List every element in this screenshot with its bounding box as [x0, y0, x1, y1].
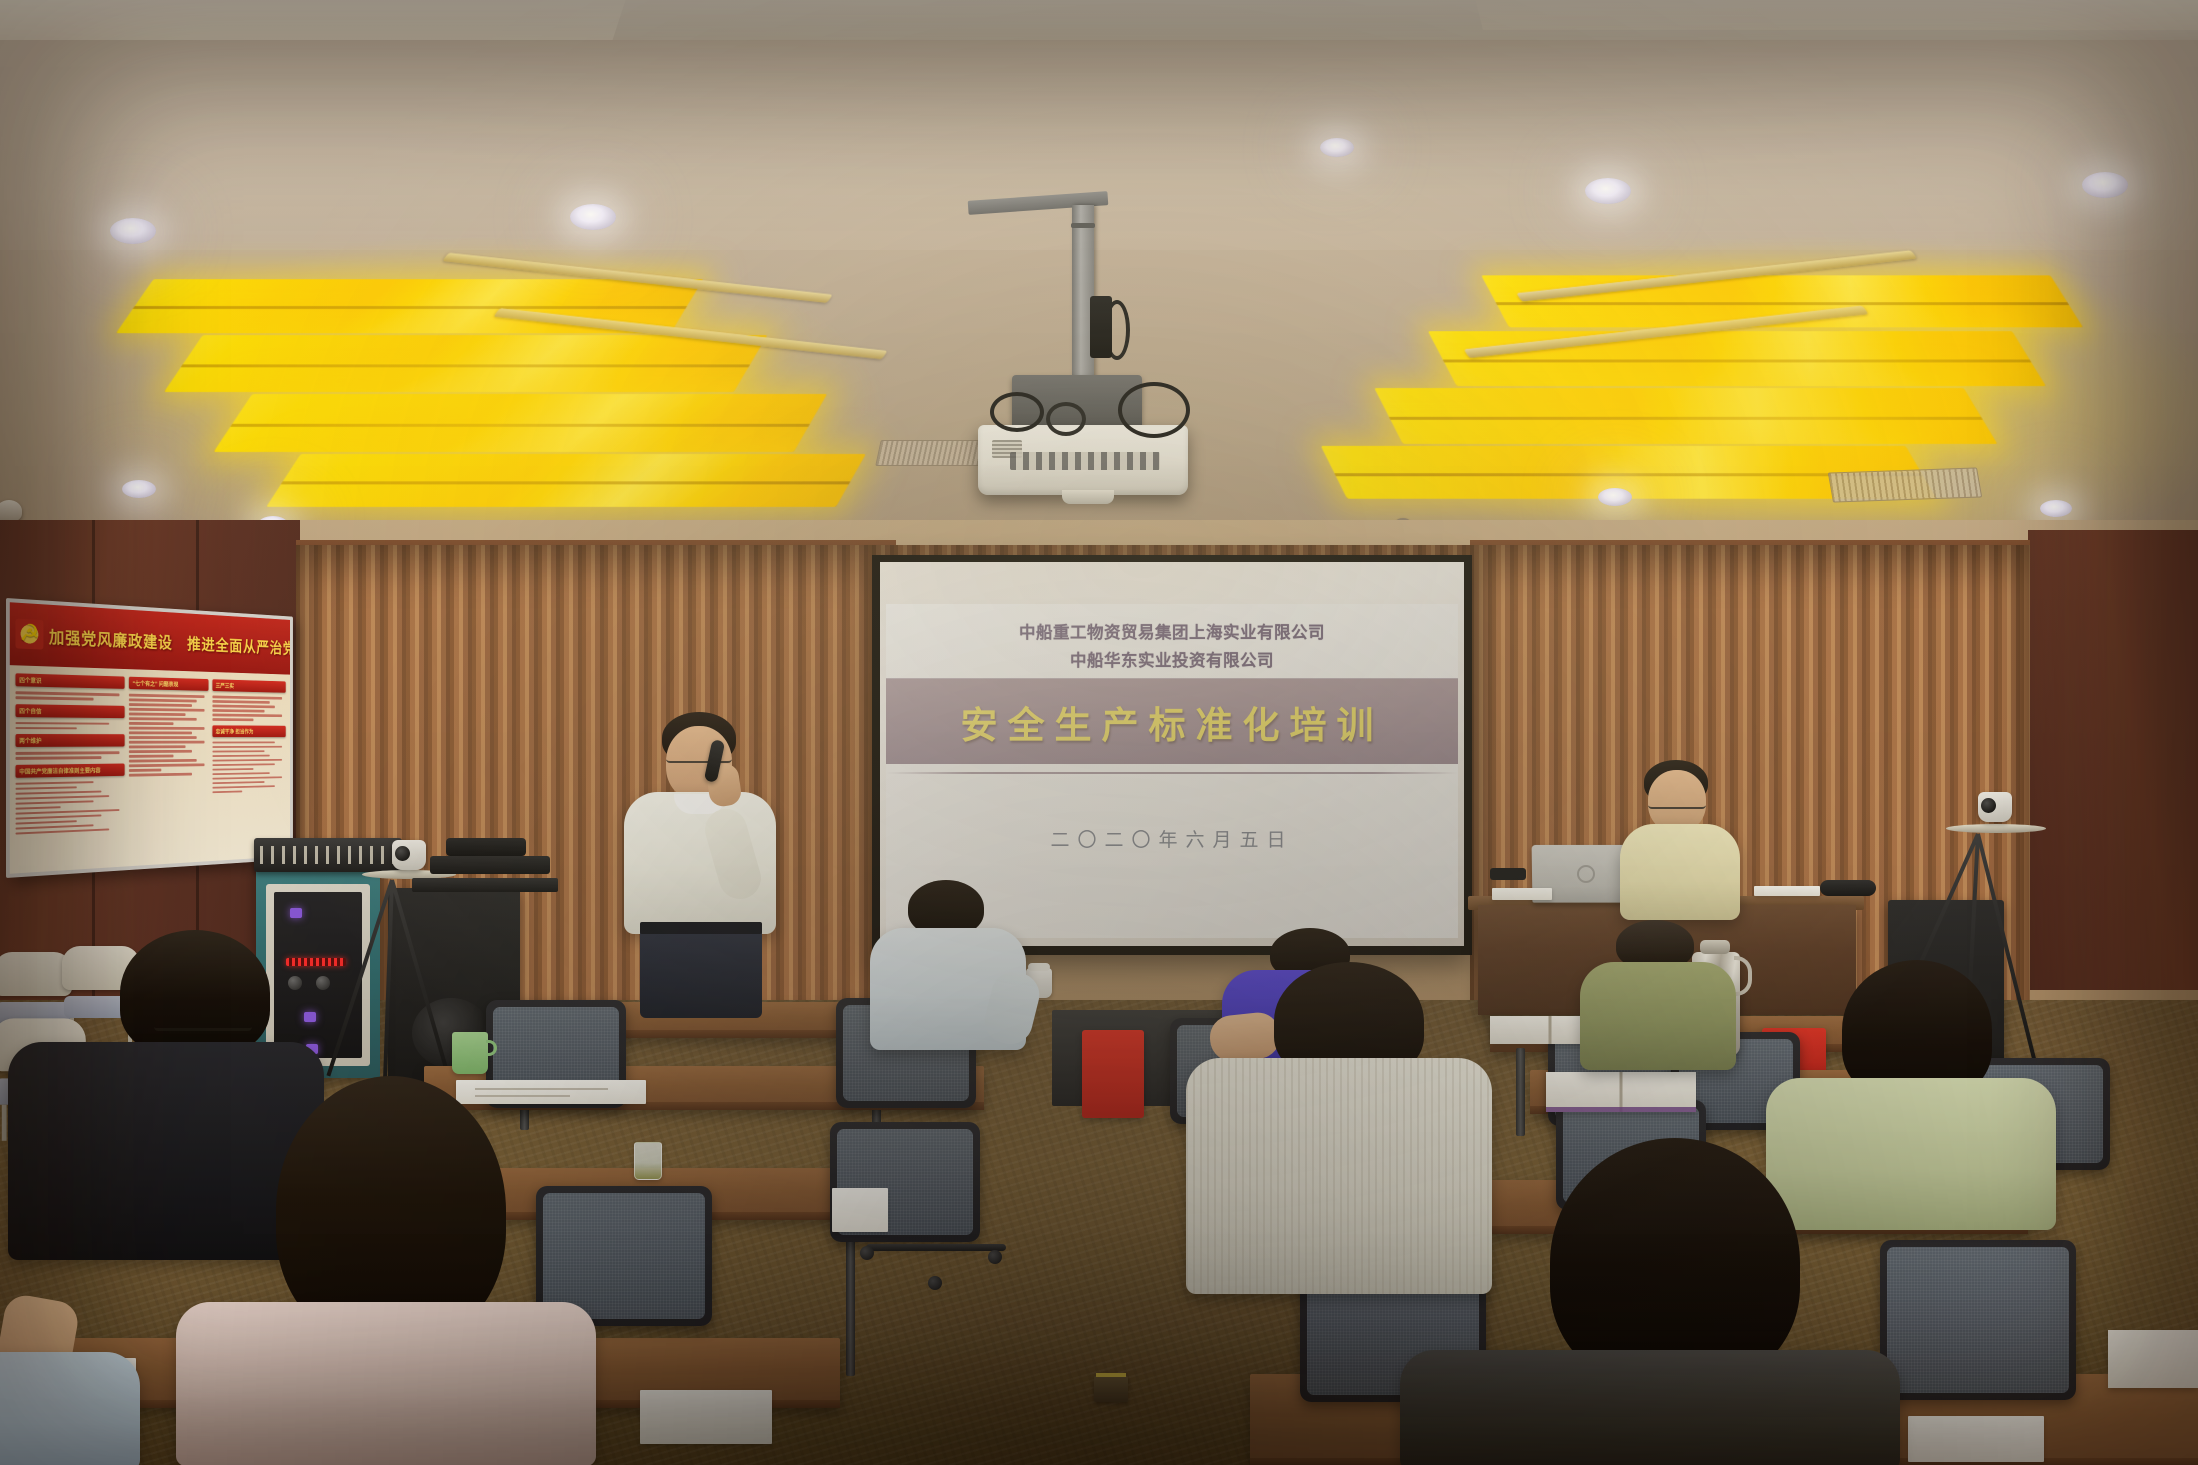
- onyx-light-panel: [266, 454, 866, 507]
- loose-papers: [832, 1188, 888, 1232]
- presenter-trousers: [640, 926, 762, 1018]
- party-emblem-icon: [15, 619, 43, 650]
- onyx-light-panel: [1374, 388, 1997, 444]
- slide-company-line-2: 中船华东实业投资有限公司: [1070, 647, 1274, 671]
- attendee-torso: [176, 1302, 596, 1465]
- mesh-office-chair[interactable]: [1880, 1240, 2076, 1400]
- attendee-torso: [0, 1352, 140, 1465]
- slide-company-line-1: 中船重工物资贸易集团上海实业有限公司: [1019, 619, 1325, 643]
- board-columns: 四个意识 四个自信 两个维护 中国共产党廉洁自律准则主要内容 “七个有: [10, 667, 290, 873]
- attendee-light-top-far-left: [0, 1288, 150, 1465]
- rack-top-equipment: [430, 856, 550, 874]
- projector-cable: [990, 392, 1044, 432]
- loose-papers: [1908, 1416, 2044, 1462]
- ceiling-slab-right: [1473, 0, 2198, 30]
- camera-lens-icon: [395, 846, 410, 861]
- recessed-downlight: [1585, 178, 1631, 204]
- projector-cable: [1118, 382, 1190, 438]
- glass-of-tea: [634, 1142, 662, 1180]
- attendee-blue-shirt-center: [856, 880, 1036, 1050]
- board-headline: 加强党风廉政建设 推进全面从严治党: [49, 623, 290, 658]
- open-notebook: [2108, 1330, 2198, 1388]
- hp-logo-icon: [1577, 865, 1595, 883]
- attendee-pink-top-front-left: [176, 1076, 596, 1465]
- chair-castor: [988, 1250, 1002, 1264]
- ceiling-light-panel-group-left: [123, 272, 827, 520]
- recessed-downlight: [2082, 172, 2128, 198]
- board-column: 三严三实 忠诚干净 担当作为: [213, 679, 286, 855]
- red-chair: [1082, 1030, 1144, 1118]
- onyx-light-panel: [1428, 331, 2046, 386]
- conference-room-photo: 加强党风廉政建设 推进全面从严治党 四个意识 四个自信 两个维护 中国共产党廉洁…: [0, 0, 2198, 1465]
- ptz-camera-front: [392, 840, 426, 870]
- presenter: [616, 712, 796, 1012]
- presenter-belt: [640, 922, 762, 934]
- chair-castor: [928, 1276, 942, 1290]
- camera-mount-plate: [1946, 824, 2046, 833]
- attendee-hair: [120, 930, 270, 1056]
- chair-castor: [860, 1246, 874, 1260]
- recessed-downlight: [110, 218, 156, 244]
- loose-papers: [640, 1390, 772, 1444]
- ptz-camera-rear: [1978, 792, 2012, 822]
- board-header: 加强党风廉政建设 推进全面从严治党: [10, 602, 290, 674]
- attendee-torso: [1580, 962, 1736, 1070]
- slide-title-band: 安全生产标准化培训: [886, 678, 1458, 764]
- onyx-light-panel: [213, 394, 827, 452]
- floor-power-box: [1094, 1376, 1128, 1402]
- board-tag: 忠诚干净 担当作为: [213, 725, 286, 737]
- green-mug: [452, 1032, 488, 1074]
- board-tag: 三严三实: [213, 679, 286, 693]
- glasses-icon: [1648, 800, 1706, 809]
- board-tag: 两个维护: [15, 734, 124, 747]
- board-tag: 四个自信: [15, 704, 124, 718]
- onyx-light-panel: [164, 335, 768, 392]
- podium-device: [1490, 868, 1526, 880]
- attendee-olive-shirt-back-right: [1568, 920, 1748, 1070]
- ceiling-slab-left: [0, 0, 627, 40]
- recessed-downlight: [2040, 500, 2072, 517]
- attendee-torso: [1400, 1350, 1900, 1465]
- board-tag: 中国共产党廉洁自律准则主要内容: [15, 763, 124, 777]
- board-column: “七个有之” 问题表现: [129, 677, 208, 861]
- rack-top-equipment: [412, 878, 558, 892]
- recessed-downlight: [1598, 488, 1632, 506]
- host-at-podium: [1604, 760, 1754, 920]
- board-column: 四个意识 四个自信 两个维护 中国共产党廉洁自律准则主要内容: [15, 674, 124, 868]
- ceiling-air-vent: [1828, 467, 1982, 502]
- projector-lens: [1062, 490, 1114, 504]
- slide-header: 中船重工物资贸易集团上海实业有限公司 中船华东实业投资有限公司: [886, 604, 1458, 678]
- camera-lens-icon: [1981, 798, 1996, 813]
- slide-date: 二〇二〇年六月五日: [1050, 825, 1293, 852]
- chair-base: [866, 1244, 1006, 1251]
- board-tag: 四个意识: [15, 674, 124, 690]
- podium-papers: [1492, 888, 1552, 900]
- table-leg: [1516, 1048, 1525, 1136]
- rack-top-equipment: [446, 838, 526, 856]
- rack-indicator-light: [290, 908, 302, 918]
- slide-title: 安全生产标准化培训: [961, 695, 1384, 749]
- recessed-downlight: [1320, 138, 1354, 157]
- attendee-dark-top-front-right: [1400, 1138, 1900, 1465]
- board-tag: “七个有之” 问题表现: [129, 677, 208, 691]
- projector-signal-box: [1090, 296, 1112, 358]
- host-torso: [1620, 824, 1740, 920]
- projector-port-panel: [1010, 452, 1160, 470]
- podium-papers: [1754, 886, 1820, 896]
- podium-device: [1820, 880, 1876, 896]
- glasses-icon: [154, 1022, 252, 1031]
- corner-camera-icon: [0, 500, 22, 522]
- party-discipline-wall-board: 加强党风廉政建设 推进全面从严治党 四个意识 四个自信 两个维护 中国共产党廉洁…: [6, 598, 293, 878]
- projector-cable: [1046, 402, 1086, 436]
- recessed-downlight: [570, 204, 616, 230]
- open-notebook: [1546, 1072, 1696, 1112]
- recessed-downlight: [122, 480, 156, 498]
- slide-divider: [886, 772, 1458, 774]
